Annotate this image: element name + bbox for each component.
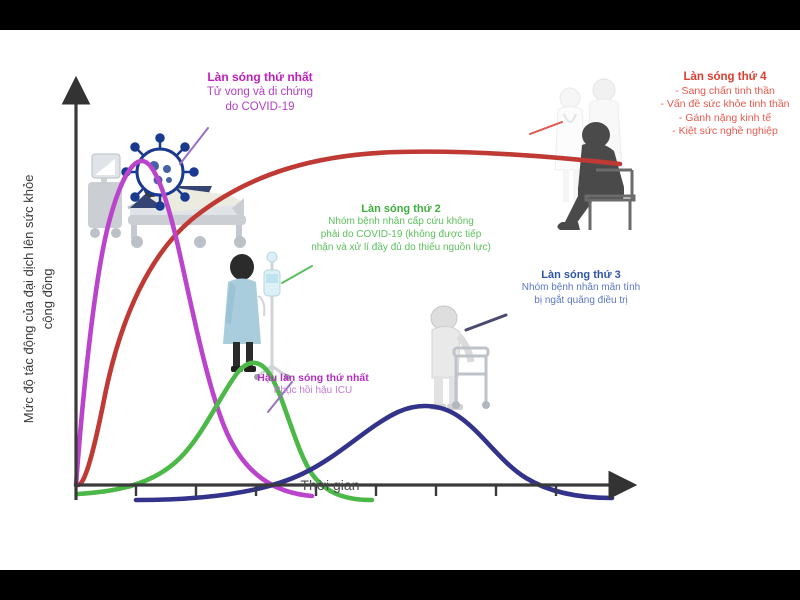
wave1-line-1: Tử vong và di chứng xyxy=(150,85,370,100)
wave4-line-2: - Vấn đề sức khỏe tinh thần xyxy=(650,98,800,111)
x-axis-label: Thời gian xyxy=(240,477,420,493)
coronavirus-illustration xyxy=(123,135,198,210)
wave2-heading: Làn sóng thứ 2 xyxy=(295,202,507,216)
wave3-heading: Làn sóng thứ 3 xyxy=(483,268,679,282)
wave1-heading: Làn sóng thứ nhất xyxy=(150,70,370,85)
post-wave1-line-1: Phục hồi hậu ICU xyxy=(233,385,393,398)
wave4-heading: Làn sóng thứ 4 xyxy=(650,70,800,85)
wave4-line-1: - Sang chấn tinh thần xyxy=(650,85,800,98)
screenshot-root: Làn sóng thứ nhất Tử vong và di chứng do… xyxy=(0,0,800,600)
annotation-wave4: Làn sóng thứ 4 - Sang chấn tinh thần - V… xyxy=(650,70,800,138)
wave1-line-2: do COVID-19 xyxy=(150,100,370,115)
wave4-line-4: - Kiệt sức nghề nghiệp xyxy=(650,125,800,138)
walker-patient-illustration xyxy=(430,306,490,410)
figure-canvas: Làn sóng thứ nhất Tử vong và di chứng do… xyxy=(0,30,800,570)
wave4-line-3: - Gánh nặng kinh tế xyxy=(650,112,800,125)
annotation-post-wave1: Hậu làn sóng thứ nhất Phục hồi hậu ICU xyxy=(233,372,393,398)
annotation-wave3: Làn sóng thứ 3 Nhóm bệnh nhân mãn tính b… xyxy=(483,268,679,308)
wave3-line-2: bị ngắt quãng điều trị xyxy=(483,295,679,308)
annotation-wave2: Làn sóng thứ 2 Nhóm bệnh nhân cấp cứu kh… xyxy=(295,202,507,254)
wave2-line-2: phải do COVID-19 (không được tiếp xyxy=(295,229,507,242)
post-wave1-heading: Hậu làn sóng thứ nhất xyxy=(233,372,393,385)
wave3-line-1: Nhóm bệnh nhân mãn tính xyxy=(483,282,679,295)
iv-patient-illustration xyxy=(223,252,290,380)
annotation-wave1: Làn sóng thứ nhất Tử vong và di chứng do… xyxy=(150,70,370,115)
wave2-line-1: Nhóm bệnh nhân cấp cứu không xyxy=(295,216,507,229)
y-axis-label: Mức độ tác động của đại dịch lên sức khỏ… xyxy=(20,174,58,424)
wave2-line-3: nhận và xử lí đầy đủ do thiếu nguồn lực) xyxy=(295,242,507,255)
